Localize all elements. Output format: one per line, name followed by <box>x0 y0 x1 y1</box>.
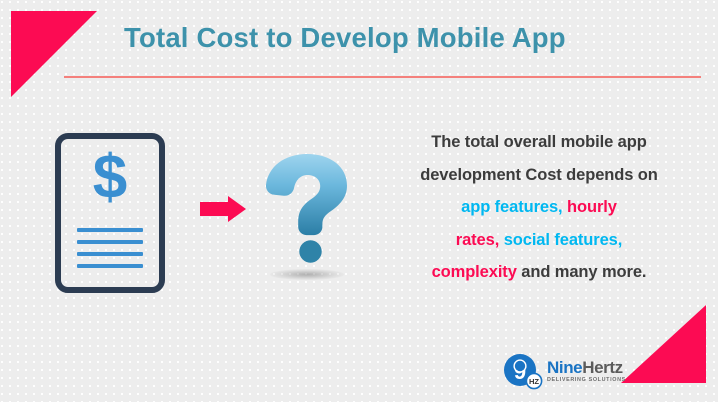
description-line-5: complexity and many more. <box>374 256 704 289</box>
document-text-lines <box>77 228 143 268</box>
description-text: The total overall mobile app development… <box>374 126 704 289</box>
highlight-complexity: complexity <box>432 263 517 281</box>
description-line-4: rates, social features, <box>374 224 704 257</box>
top-left-triangle-decoration <box>11 11 97 97</box>
svg-text:HZ: HZ <box>529 377 539 386</box>
ninehertz-logo-mark-icon: 9 HZ <box>503 352 543 390</box>
document-line <box>77 252 143 256</box>
infographic-canvas: Total Cost to Develop Mobile App $ <box>0 0 718 402</box>
title-divider-rule <box>64 76 701 78</box>
brand-name: NineHertz <box>547 359 626 376</box>
brand-name-first: Nine <box>547 358 582 377</box>
brand-tagline: DELIVERING SOLUTIONS <box>547 378 626 383</box>
document-line <box>77 228 143 232</box>
bottom-right-triangle-decoration <box>621 305 706 383</box>
document-line <box>77 240 143 244</box>
invoice-document-icon: $ <box>55 133 165 293</box>
brand-name-second: Hertz <box>582 358 623 377</box>
highlight-hourly: hourly <box>567 198 617 216</box>
highlight-social-features: social features, <box>504 231 623 249</box>
right-arrow-icon <box>200 196 246 222</box>
question-mark-shadow <box>270 269 344 280</box>
brand-logo-text: NineHertz DELIVERING SOLUTIONS <box>547 359 626 383</box>
description-line-1: The total overall mobile app <box>374 126 704 159</box>
highlight-app-features: app features, <box>461 198 562 216</box>
page-title: Total Cost to Develop Mobile App <box>124 22 566 54</box>
description-line-3: app features, hourly <box>374 191 704 224</box>
question-mark-icon <box>262 152 352 282</box>
description-segment: and many more. <box>517 263 647 281</box>
description-segment: The total overall mobile app <box>431 133 646 151</box>
dollar-sign-icon: $ <box>61 147 159 209</box>
highlight-rates: rates, <box>456 231 499 249</box>
brand-logo: 9 HZ NineHertz DELIVERING SOLUTIONS <box>503 352 626 390</box>
description-line-2: development Cost depends on <box>374 159 704 192</box>
document-line <box>77 264 143 268</box>
description-segment: development Cost depends on <box>420 166 658 184</box>
